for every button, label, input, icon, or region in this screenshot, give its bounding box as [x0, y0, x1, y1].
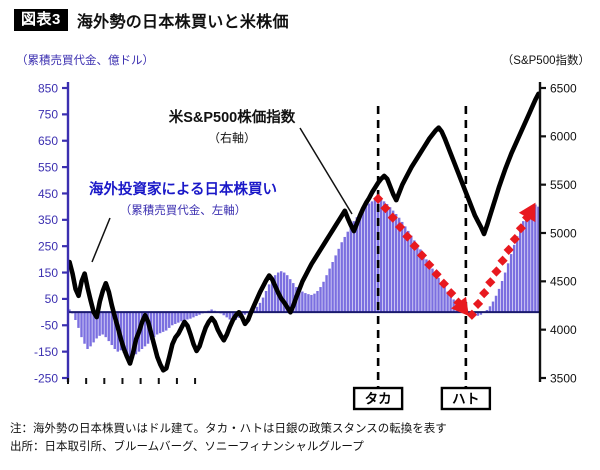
chart-annotations: 米S&P500株価指数（右軸）海外投資家による日本株買い（累積売買代金、左軸）: [89, 108, 352, 262]
svg-text:5000: 5000: [550, 226, 577, 240]
svg-text:550: 550: [38, 160, 58, 174]
svg-text:（右軸）: （右軸）: [208, 130, 256, 145]
svg-text:-150: -150: [34, 345, 58, 359]
note-text: 注：海外勢の日本株買いはドル建て。タカ・ハトは日銀の政策スタンスの転換を表す: [10, 421, 447, 439]
svg-text:5500: 5500: [550, 178, 577, 192]
svg-text:450: 450: [38, 187, 58, 201]
left-axis: 85075065055045035025015050-50-150-250: [34, 81, 68, 385]
svg-text:6000: 6000: [550, 130, 577, 144]
svg-text:350: 350: [38, 213, 58, 227]
svg-text:-250: -250: [34, 371, 58, 385]
event-label-hawk: タカ: [365, 392, 392, 407]
right-axis: 6500600055005000450040003500: [540, 81, 577, 385]
source-text: 出所：日本取引所、ブルームバーグ、ソニーフィナンシャルグループ: [10, 439, 447, 457]
svg-text:50: 50: [45, 292, 59, 306]
svg-text:650: 650: [38, 134, 58, 148]
page-title: 海外勢の日本株買いと米株価: [77, 8, 289, 32]
annotation-foreign-buying: 海外投資家による日本株買い: [89, 180, 277, 198]
svg-text:-50: -50: [41, 319, 59, 333]
event-label-dove: ハト: [452, 392, 479, 407]
svg-text:3500: 3500: [550, 371, 577, 385]
figure-badge: 図表3: [14, 9, 68, 31]
chart-header: 図表3 海外勢の日本株買いと米株価: [14, 8, 289, 32]
svg-text:150: 150: [38, 266, 58, 280]
annotation-sp500: 米S&P500株価指数: [169, 108, 296, 126]
svg-text:850: 850: [38, 81, 58, 95]
svg-text:4500: 4500: [550, 275, 577, 289]
x-axis: 22/0122/0723/0123/0724/0124/0725/0125/07…: [54, 378, 599, 416]
svg-text:250: 250: [38, 239, 58, 253]
chart-canvas: タカハト 85075065055045035025015050-50-150-2…: [0, 66, 600, 416]
footnotes: 注：海外勢の日本株買いはドル建て。タカ・ハトは日銀の政策スタンスの転換を表す 出…: [10, 421, 447, 457]
svg-text:（累積売買代金、左軸）: （累積売買代金、左軸）: [120, 203, 247, 217]
svg-text:4000: 4000: [550, 323, 577, 337]
svg-text:6500: 6500: [550, 81, 577, 95]
svg-text:750: 750: [38, 108, 58, 122]
